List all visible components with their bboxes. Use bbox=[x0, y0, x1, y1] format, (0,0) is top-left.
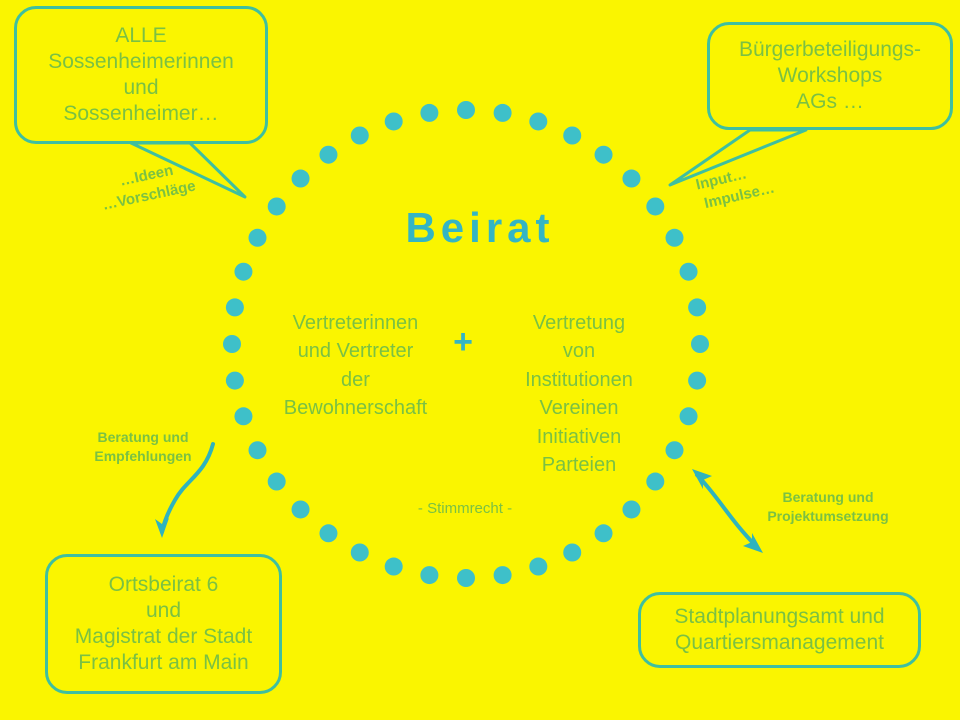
council-line: Parteien bbox=[490, 451, 668, 479]
ring-dot bbox=[292, 500, 310, 518]
diagram-canvas: ALLE Sossenheimerinnen und Sossenheimer…… bbox=[0, 0, 960, 720]
ring-dot bbox=[563, 127, 581, 145]
bubble-line: Workshops bbox=[718, 63, 942, 89]
box-line: Stadtplanungsamt und bbox=[649, 604, 910, 630]
ring-dot bbox=[234, 263, 252, 281]
council-residents-column: Vertreterinnen und Vertreter der Bewohne… bbox=[268, 309, 443, 423]
ring-dot bbox=[226, 298, 244, 316]
annotation-line: Beratung und bbox=[744, 488, 912, 507]
annotation-line: Projektumsetzung bbox=[744, 507, 912, 526]
box-line: Ortsbeirat 6 bbox=[56, 572, 271, 598]
ring-dot bbox=[563, 544, 581, 562]
ring-dot bbox=[666, 441, 684, 459]
ring-dot bbox=[529, 558, 547, 576]
ring-dot bbox=[595, 146, 613, 164]
council-line: der bbox=[268, 366, 443, 394]
ring-dot bbox=[691, 335, 709, 353]
ring-dot bbox=[688, 372, 706, 390]
council-line: Bewohnerschaft bbox=[268, 394, 443, 422]
council-line: Institutionen bbox=[490, 366, 668, 394]
voting-rights-note: - Stimmrecht - bbox=[340, 500, 590, 517]
ring-dot bbox=[680, 407, 698, 425]
council-line: und Vertreter bbox=[268, 337, 443, 365]
ring-dot bbox=[622, 500, 640, 518]
annotation-line: Beratung und bbox=[78, 428, 208, 447]
box-ortsbeirat-text: Ortsbeirat 6 und Magistrat der Stadt Fra… bbox=[48, 572, 279, 676]
annotation-line: Empfehlungen bbox=[78, 447, 208, 466]
ring-dot bbox=[494, 566, 512, 584]
bubble-line: Sossenheimerinnen bbox=[25, 49, 257, 75]
speech-bubble-citizens-text: ALLE Sossenheimerinnen und Sossenheimer… bbox=[17, 23, 265, 127]
bubble-line: und bbox=[25, 75, 257, 101]
bubble-line: AGs … bbox=[718, 89, 942, 115]
box-line: Quartiersmanagement bbox=[649, 630, 910, 656]
council-line: Initiativen bbox=[490, 423, 668, 451]
box-stadtplanungsamt-text: Stadtplanungsamt und Quartiersmanagement bbox=[641, 604, 918, 656]
ring-dot bbox=[420, 104, 438, 122]
ring-dot bbox=[234, 407, 252, 425]
ring-dot bbox=[680, 263, 698, 281]
ring-dot bbox=[226, 372, 244, 390]
ring-dot bbox=[385, 112, 403, 130]
council-institutions-column: Vertretung von Institutionen Vereinen In… bbox=[490, 309, 668, 479]
ring-dot bbox=[319, 146, 337, 164]
box-stadtplanungsamt: Stadtplanungsamt und Quartiersmanagement bbox=[638, 592, 921, 668]
annotation-beratung-empfehlungen: Beratung und Empfehlungen bbox=[78, 428, 208, 466]
ring-dot bbox=[249, 441, 267, 459]
speech-bubble-workshops-text: Bürgerbeteiligungs- Workshops AGs … bbox=[710, 37, 950, 115]
box-ortsbeirat: Ortsbeirat 6 und Magistrat der Stadt Fra… bbox=[45, 554, 282, 694]
ring-dot bbox=[457, 569, 475, 587]
council-line: Vertreterinnen bbox=[268, 309, 443, 337]
ring-dot bbox=[351, 127, 369, 145]
ring-dot bbox=[223, 335, 241, 353]
speech-bubble-workshops: Bürgerbeteiligungs- Workshops AGs … bbox=[707, 22, 953, 130]
ring-dot bbox=[494, 104, 512, 122]
ring-dot bbox=[319, 524, 337, 542]
council-line: von bbox=[490, 337, 668, 365]
speech-bubble-citizens: ALLE Sossenheimerinnen und Sossenheimer… bbox=[14, 6, 268, 144]
ring-dot bbox=[457, 101, 475, 119]
plus-icon: + bbox=[440, 325, 486, 359]
bubble-line: Bürgerbeteiligungs- bbox=[718, 37, 942, 63]
ring-dot bbox=[268, 473, 286, 491]
box-line: Magistrat der Stadt bbox=[56, 624, 271, 650]
council-line: Vertretung bbox=[490, 309, 668, 337]
ring-dot bbox=[385, 558, 403, 576]
box-line: und bbox=[56, 598, 271, 624]
ring-dot bbox=[420, 566, 438, 584]
ring-dot bbox=[351, 544, 369, 562]
ring-dot bbox=[292, 170, 310, 188]
bubble-line: ALLE bbox=[25, 23, 257, 49]
diagram-title: Beirat bbox=[0, 204, 960, 252]
ring-dot bbox=[529, 112, 547, 130]
box-line: Frankfurt am Main bbox=[56, 650, 271, 676]
ring-dot bbox=[595, 524, 613, 542]
ring-dot bbox=[622, 170, 640, 188]
bubble-line: Sossenheimer… bbox=[25, 101, 257, 127]
ring-dot bbox=[688, 298, 706, 316]
council-line: Vereinen bbox=[490, 394, 668, 422]
annotation-beratung-projektumsetzung: Beratung und Projektumsetzung bbox=[744, 488, 912, 526]
